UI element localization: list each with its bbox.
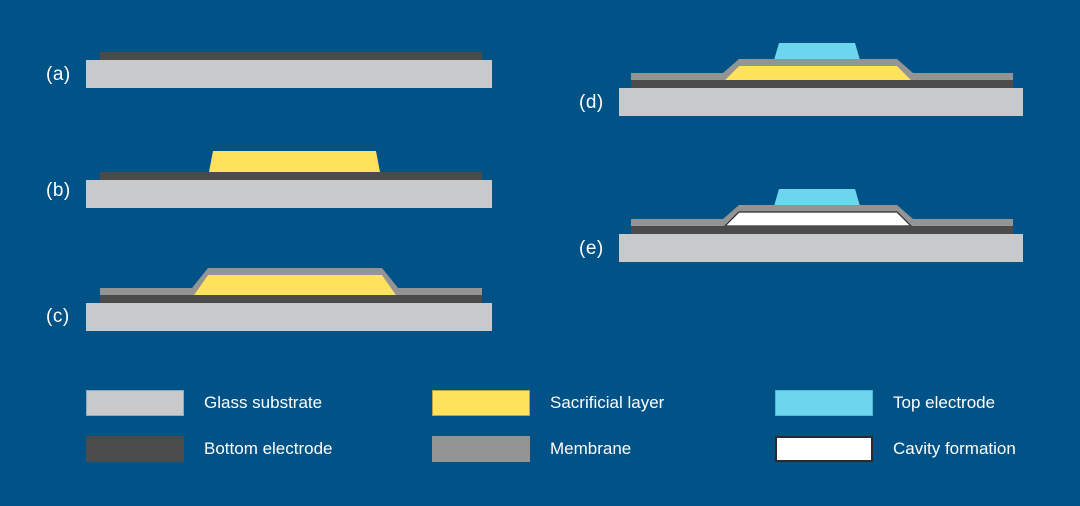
- cavity-formation-shape: [725, 212, 911, 226]
- bottom-electrode-layer: [100, 52, 482, 60]
- legend-item-top-electrode: Top electrode: [775, 380, 1016, 426]
- membrane-swatch: [432, 436, 530, 462]
- panel-c-cross-section: [86, 260, 496, 340]
- bottom-electrode-layer: [100, 295, 482, 303]
- top-electrode-shape: [774, 189, 860, 206]
- panel-e: [619, 182, 1029, 277]
- panel-a: [86, 44, 496, 99]
- panel-label-a: (a): [46, 64, 71, 86]
- legend-item-bottom-electrode: Bottom electrode: [86, 426, 333, 472]
- glass-substrate-layer: [619, 234, 1023, 262]
- legend-label-membrane: Membrane: [550, 439, 631, 459]
- legend-column-3: Top electrode Cavity formation: [775, 380, 1016, 472]
- legend: Glass substrate Bottom electrode Sacrifi…: [0, 380, 1080, 480]
- legend-item-sacrificial-layer: Sacrificial layer: [432, 380, 664, 426]
- sacrificial-layer-shape: [194, 275, 396, 295]
- legend-item-cavity-formation: Cavity formation: [775, 426, 1016, 472]
- legend-item-membrane: Membrane: [432, 426, 664, 472]
- bottom-electrode-layer: [100, 172, 482, 180]
- glass-substrate-layer: [86, 303, 492, 331]
- legend-label-top-electrode: Top electrode: [893, 393, 995, 413]
- glass-substrate-layer: [86, 60, 492, 88]
- panel-e-cross-section: [619, 182, 1029, 272]
- panel-label-d: (d): [579, 92, 604, 114]
- panel-d: [619, 36, 1029, 131]
- bottom-electrode-swatch: [86, 436, 184, 462]
- legend-label-cavity-formation: Cavity formation: [893, 439, 1016, 459]
- panel-d-cross-section: [619, 36, 1029, 126]
- sacrificial-layer-shape: [209, 151, 380, 172]
- legend-column-2: Sacrificial layer Membrane: [432, 380, 664, 472]
- panel-c: [86, 260, 496, 345]
- cavity-formation-swatch: [775, 436, 873, 462]
- legend-label-sacrificial-layer: Sacrificial layer: [550, 393, 664, 413]
- panel-label-b: (b): [46, 180, 71, 202]
- top-electrode-shape: [774, 43, 860, 60]
- legend-label-glass-substrate: Glass substrate: [204, 393, 322, 413]
- sacrificial-layer-swatch: [432, 390, 530, 416]
- glass-substrate-layer: [619, 88, 1023, 116]
- legend-item-glass-substrate: Glass substrate: [86, 380, 333, 426]
- legend-label-bottom-electrode: Bottom electrode: [204, 439, 333, 459]
- panel-a-cross-section: [86, 44, 496, 94]
- panel-b: [86, 146, 496, 231]
- sacrificial-layer-shape: [725, 66, 911, 80]
- glass-substrate-swatch: [86, 390, 184, 416]
- panel-b-cross-section: [86, 146, 496, 226]
- process-flow-figure: (a) (b) (c) (d): [0, 0, 1080, 506]
- glass-substrate-layer: [86, 180, 492, 208]
- panel-label-c: (c): [46, 306, 70, 328]
- panel-label-e: (e): [579, 238, 604, 260]
- bottom-electrode-layer: [631, 80, 1013, 88]
- bottom-electrode-layer: [631, 226, 1013, 234]
- top-electrode-swatch: [775, 390, 873, 416]
- legend-column-1: Glass substrate Bottom electrode: [86, 380, 333, 472]
